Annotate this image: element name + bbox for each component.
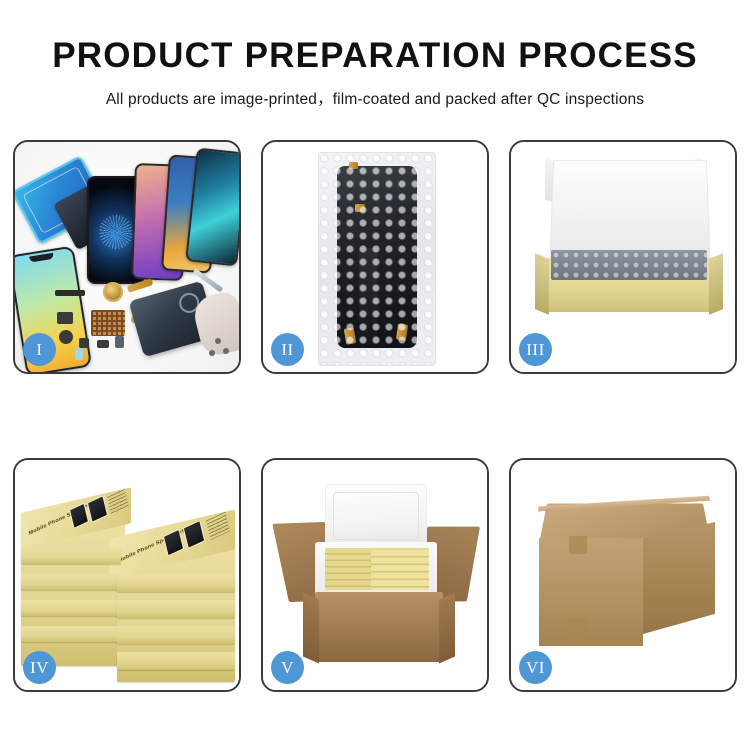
box-layer-r2: [117, 600, 235, 618]
box-layer-r4: [117, 652, 235, 670]
bubble-wrapped-contents: [551, 250, 707, 280]
box-window-2b: [183, 520, 206, 549]
box-spec-lines-1: [107, 489, 129, 516]
part-block-3: [79, 338, 89, 348]
process-step-1[interactable]: I: [13, 140, 241, 374]
process-step-2[interactable]: II: [261, 140, 489, 374]
box-layer-l1: [21, 548, 121, 564]
step-badge-2: II: [271, 333, 304, 366]
packed-retail-boxes-right: [371, 550, 429, 590]
page-subtitle: All products are image-printed，film-coat…: [0, 87, 750, 109]
bubble-wrap-overlay: [318, 152, 434, 364]
step-badge-1: I: [23, 333, 56, 366]
screw-3: [209, 350, 215, 356]
screw-1: [215, 338, 221, 344]
part-block-5: [115, 336, 124, 348]
page-header: PRODUCT PREPARATION PROCESS All products…: [0, 0, 750, 109]
box-window-1b: [87, 495, 109, 523]
process-step-4[interactable]: Mobile Phone Spare Parts Mobile Phone Sp…: [13, 458, 241, 692]
part-block-6: [75, 348, 83, 360]
process-step-grid: I II III: [13, 140, 737, 692]
carton-seal-bottom: [569, 618, 587, 636]
carton-front-face: [539, 538, 643, 646]
box-layer-l4: [21, 626, 121, 642]
step-badge-5: V: [271, 651, 304, 684]
box-layer-l2: [21, 574, 121, 590]
part-block-2: [59, 330, 73, 344]
connector-chip-part: [91, 310, 125, 336]
step-badge-3: III: [519, 333, 552, 366]
step-badge-4: IV: [23, 651, 56, 684]
part-block-1: [57, 312, 73, 324]
box-stack: Mobile Phone Spare Parts Mobile Phone Sp…: [21, 482, 235, 680]
outer-carton-body: [315, 592, 443, 662]
box-layer-r3: [117, 626, 235, 644]
earpiece-part: [55, 290, 85, 296]
foam-case-lid: [325, 484, 427, 548]
carton-right-face: [643, 522, 715, 634]
step-badge-6: VI: [519, 651, 552, 684]
process-step-3[interactable]: III: [509, 140, 737, 374]
page-title: PRODUCT PREPARATION PROCESS: [0, 38, 750, 75]
process-step-6[interactable]: VI: [509, 458, 737, 692]
carton-seal-top: [569, 536, 587, 554]
part-block-4: [97, 340, 109, 348]
screw-2: [223, 348, 229, 354]
speaker-coil-part: [103, 282, 123, 302]
box-layer-l3: [21, 600, 121, 616]
box-spec-lines-2: [206, 512, 230, 540]
process-step-5[interactable]: V: [261, 458, 489, 692]
box-layer-r1: [117, 574, 235, 592]
